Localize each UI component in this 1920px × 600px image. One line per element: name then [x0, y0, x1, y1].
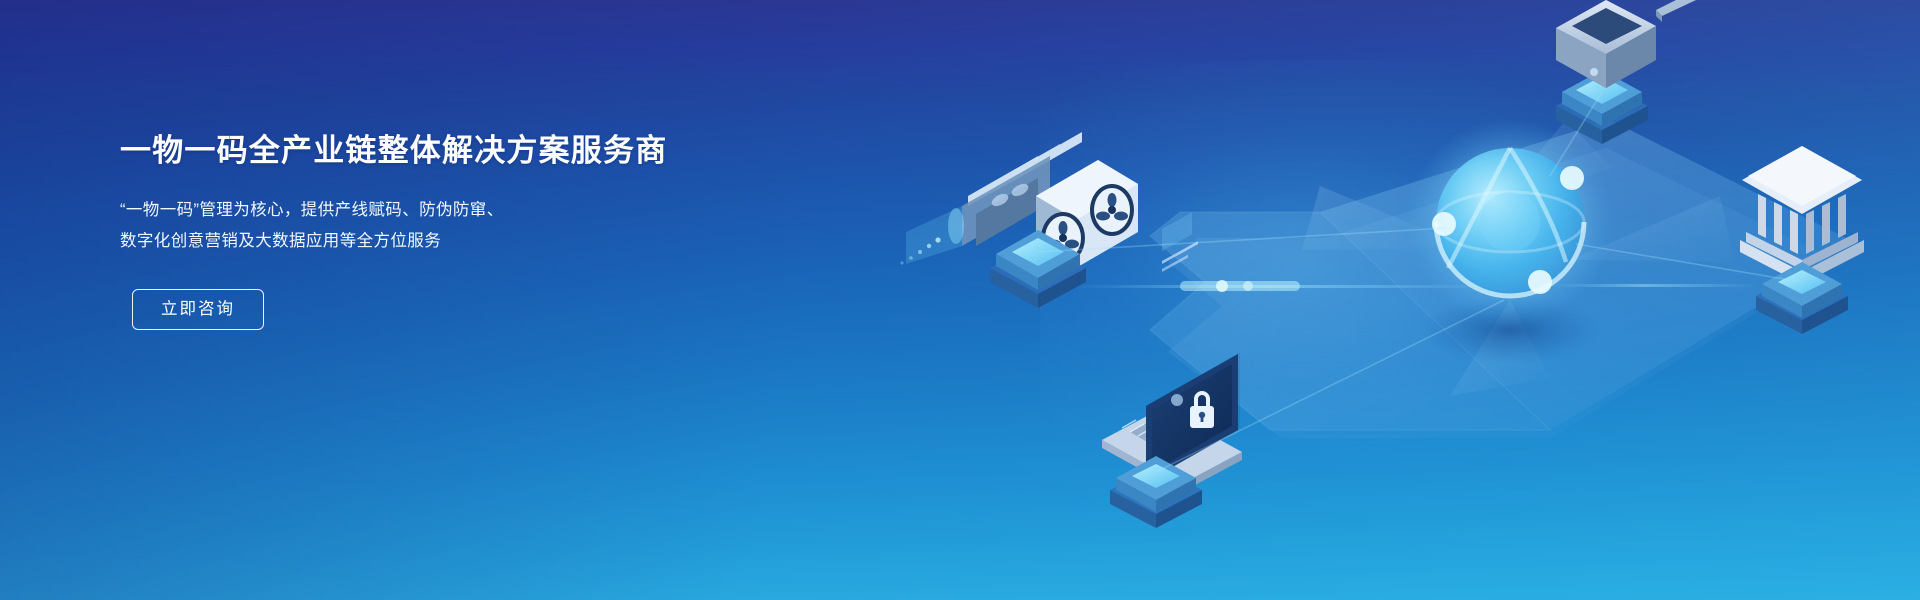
hero-banner: 一物一码全产业链整体解决方案服务商 “一物一码”管理为核心，提供产线赋码、防伪防… — [0, 0, 1920, 600]
hero-copy: 一物一码全产业链整体解决方案服务商 “一物一码”管理为核心，提供产线赋码、防伪防… — [120, 132, 740, 330]
subtitle-line-1: “一物一码”管理为核心，提供产线赋码、防伪防窜、 — [120, 195, 740, 226]
subtitle-line-2: 数字化创意营销及大数据应用等全方位服务 — [120, 226, 740, 257]
pos-terminal-icon — [1556, 0, 1696, 88]
hero-subtitle: “一物一码”管理为核心，提供产线赋码、防伪防窜、 数字化创意营销及大数据应用等全… — [120, 195, 740, 257]
consult-now-button[interactable]: 立即咨询 — [132, 289, 264, 331]
hero-illustration — [850, 0, 1920, 600]
airflow-particles — [900, 206, 964, 265]
page-title: 一物一码全产业链整体解决方案服务商 — [120, 132, 740, 171]
network-sphere-icon — [1406, 118, 1614, 364]
